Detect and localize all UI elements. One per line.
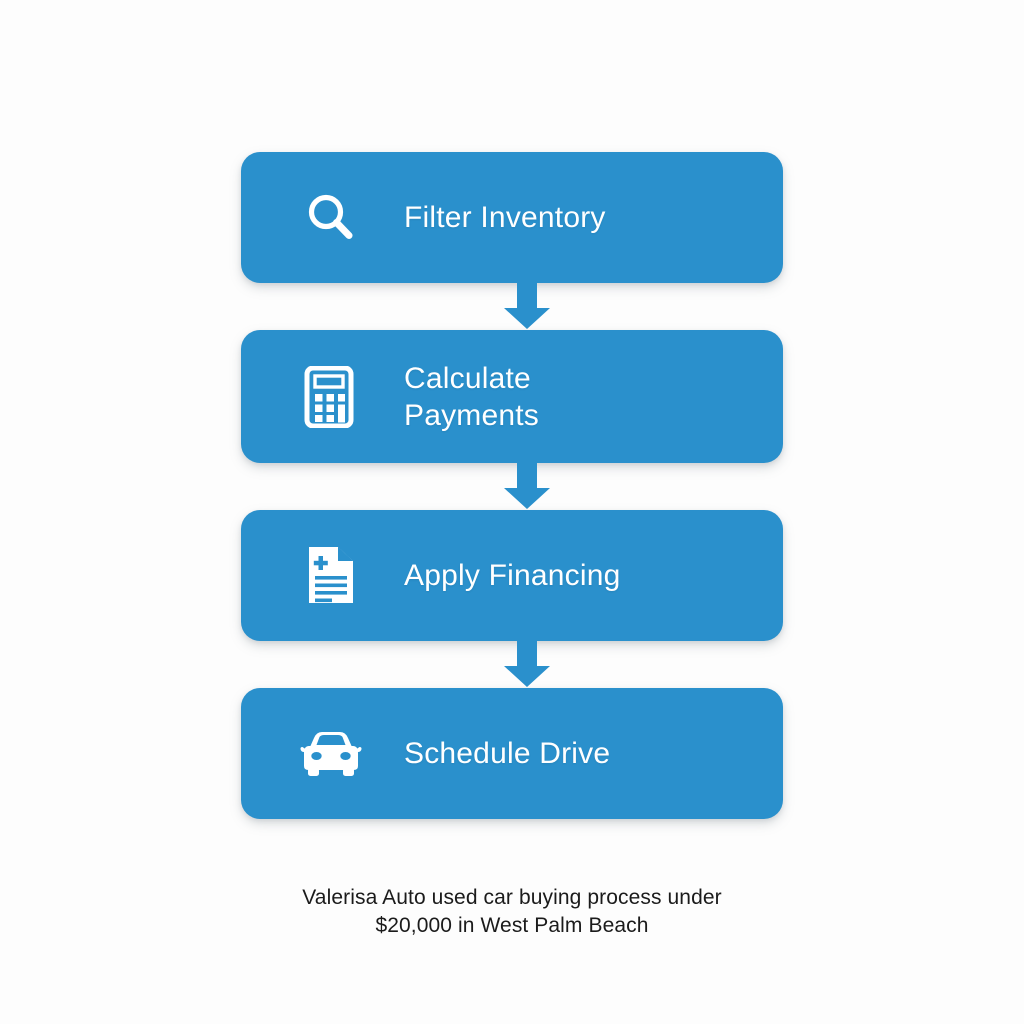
document-plus-icon — [300, 545, 362, 607]
diagram-canvas: Filter Inventory — [0, 0, 1024, 1024]
process-flowchart: Filter Inventory — [241, 152, 783, 819]
step-box-schedule-drive[interactable]: Schedule Drive — [241, 688, 783, 819]
step-label: Calculate Payments — [404, 360, 539, 434]
magnifying-glass-icon — [300, 187, 362, 249]
step-box-filter-inventory[interactable]: Filter Inventory — [241, 152, 783, 283]
connector-3 — [241, 641, 783, 688]
arrow-down-icon — [503, 283, 551, 330]
connector-2 — [241, 463, 783, 510]
diagram-caption: Valerisa Auto used car buying process un… — [0, 884, 1024, 940]
step-label: Apply Financing — [404, 557, 620, 594]
step-label: Filter Inventory — [404, 199, 606, 236]
step-box-apply-financing[interactable]: Apply Financing — [241, 510, 783, 641]
arrow-down-icon — [503, 641, 551, 688]
car-icon — [300, 723, 362, 785]
calculator-icon — [300, 366, 362, 428]
connector-1 — [241, 283, 783, 330]
step-label: Schedule Drive — [404, 735, 610, 772]
arrow-down-icon — [503, 463, 551, 510]
step-box-calculate-payments[interactable]: Calculate Payments — [241, 330, 783, 463]
